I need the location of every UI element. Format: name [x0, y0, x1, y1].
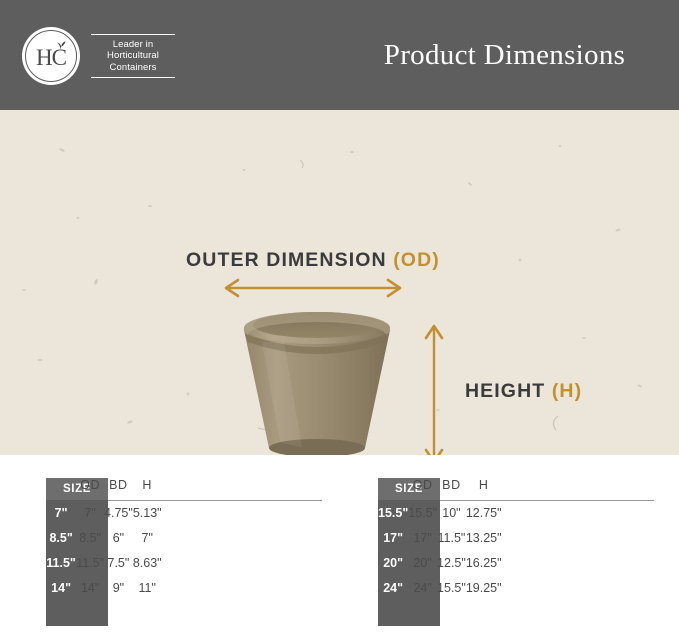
page-title: Product Dimensions — [330, 0, 679, 110]
cell-bd: 15.5" — [437, 575, 466, 600]
table-row: 8.5" 8.5" 6" 7" — [46, 525, 162, 550]
cell-bd: 9" — [104, 575, 133, 600]
cell-size: 24" — [378, 575, 408, 600]
brand-logo: HC Leader in Horticultural Containers — [22, 26, 184, 86]
table-row: 14" 14" 9" 11" — [46, 575, 162, 600]
cell-od: 24" — [408, 575, 437, 600]
cell-od: 15.5" — [408, 500, 437, 525]
height-abbrev: (H) — [552, 380, 582, 402]
cell-h: 16.25" — [466, 550, 502, 575]
column-header-od: OD — [76, 470, 104, 500]
cell-bd: 12.5" — [437, 550, 466, 575]
cell-od: 17" — [408, 525, 437, 550]
outer-dimension-text: OUTER DIMENSION — [186, 249, 387, 271]
table-row: 24" 24" 15.5" 19.25" — [378, 575, 502, 600]
illustration-panel: OUTER DIMENSION (OD) — [0, 110, 679, 455]
cell-od: 20" — [408, 550, 437, 575]
cell-size: 8.5" — [46, 525, 76, 550]
product-dimensions-infographic: HC Leader in Horticultural Containers Pr… — [0, 0, 679, 636]
cell-h: 7" — [133, 525, 162, 550]
column-header-bd: BD — [104, 470, 133, 500]
table-row: 7" 7" 4.75" 5.13" — [46, 500, 162, 525]
cell-bd: 10" — [437, 500, 466, 525]
table-row: 15.5" 15.5" 10" 12.75" — [378, 500, 502, 525]
table-header-row: SIZE OD BD H — [378, 470, 502, 500]
table-header-row: SIZE OD BD H — [46, 470, 162, 500]
outer-dimension-label: OUTER DIMENSION (OD) — [186, 249, 440, 272]
cell-h: 12.75" — [466, 500, 502, 525]
cell-bd: 11.5" — [437, 525, 466, 550]
column-header-bd: BD — [437, 470, 466, 500]
cell-h: 8.63" — [133, 550, 162, 575]
dimensions-table-left-grid: SIZE OD BD H 7" 7" 4.75" 5.13" 8.5" — [46, 470, 162, 600]
table-row: 11.5" 11.5" 7.5" 8.63" — [46, 550, 162, 575]
cell-h: 11" — [133, 575, 162, 600]
column-header-h: H — [133, 470, 162, 500]
logo-circle-icon: HC — [22, 27, 80, 85]
table-head: SIZE OD BD H — [378, 470, 502, 500]
column-header-od: OD — [408, 470, 437, 500]
cell-od: 11.5" — [76, 550, 104, 575]
cell-h: 19.25" — [466, 575, 502, 600]
height-text: HEIGHT — [465, 380, 545, 402]
cell-size: 7" — [46, 500, 76, 525]
cell-size: 20" — [378, 550, 408, 575]
cell-bd: 6" — [104, 525, 133, 550]
cell-h: 5.13" — [133, 500, 162, 525]
cell-od: 7" — [76, 500, 104, 525]
cell-bd: 4.75" — [104, 500, 133, 525]
cell-od: 8.5" — [76, 525, 104, 550]
outer-dimension-arrow-icon — [220, 278, 406, 298]
logo-tagline: Leader in Horticultural Containers — [91, 34, 175, 79]
cell-size: 14" — [46, 575, 76, 600]
table-body: 15.5" 15.5" 10" 12.75" 17" 17" 11.5" 13.… — [378, 500, 502, 600]
logo-tagline-line-2: Horticultural — [91, 50, 175, 62]
logo-monogram: HC — [22, 27, 80, 85]
height-arrow-icon — [424, 320, 444, 455]
table-row: 17" 17" 11.5" 13.25" — [378, 525, 502, 550]
table-row: 20" 20" 12.5" 16.25" — [378, 550, 502, 575]
dimension-tables: SIZE SIZE OD BD H 7" 7" 4.75" — [0, 470, 679, 636]
cell-size: 11.5" — [46, 550, 76, 575]
planter-pot-illustration — [222, 308, 412, 455]
header-bar: HC Leader in Horticultural Containers Pr… — [0, 0, 679, 110]
logo-tagline-line-3: Containers — [91, 62, 175, 74]
leaf-sprout-icon — [53, 39, 69, 50]
table-head: SIZE OD BD H — [46, 470, 162, 500]
cell-h: 13.25" — [466, 525, 502, 550]
outer-dimension-abbrev: (OD) — [393, 249, 440, 271]
logo-tagline-line-1: Leader in — [91, 39, 175, 51]
cell-size: 15.5" — [378, 500, 408, 525]
cell-bd: 7.5" — [104, 550, 133, 575]
dimensions-table-right-grid: SIZE OD BD H 15.5" 15.5" 10" 12.75" 17" — [378, 470, 502, 600]
cell-od: 14" — [76, 575, 104, 600]
table-body: 7" 7" 4.75" 5.13" 8.5" 8.5" 6" 7" 11.5" … — [46, 500, 162, 600]
cell-size: 17" — [378, 525, 408, 550]
column-header-h: H — [466, 470, 502, 500]
height-label: HEIGHT (H) — [465, 380, 582, 403]
